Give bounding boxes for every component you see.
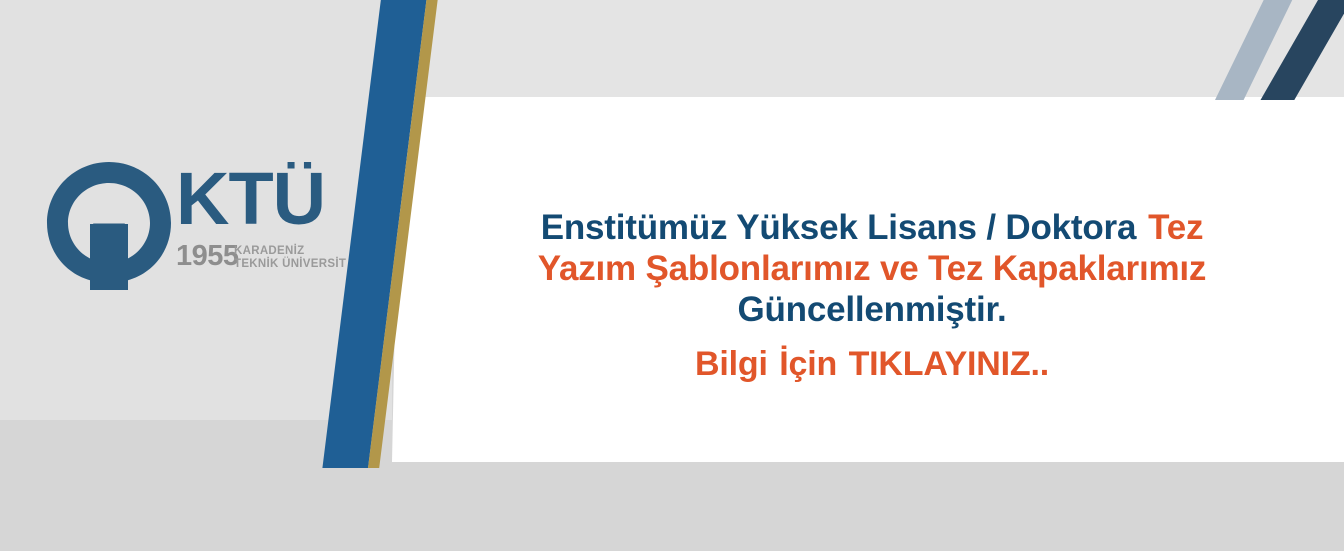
- ktu-logo[interactable]: KTÜ 1955 KARADENİZ TEKNİK ÜNİVERSİTESİ: [45, 160, 345, 295]
- announcement-line-1-orange: Tez: [1148, 208, 1203, 247]
- ktu-logo-subtitle: 1955 KARADENİZ TEKNİK ÜNİVERSİTESİ: [176, 238, 346, 280]
- announcement-line-1-navy: Enstitümüz Yüksek Lisans / Doktora: [541, 208, 1137, 247]
- announcement-text[interactable]: Enstitümüz Yüksek Lisans / DoktoraTez Ya…: [452, 208, 1292, 385]
- ktu-emblem-icon: [45, 160, 173, 292]
- svg-text:KTÜ: KTÜ: [176, 162, 325, 240]
- ktu-acronym: KTÜ: [176, 162, 346, 240]
- announcement-line-2: Yazım Şablonlarımız ve Tez Kapaklarımız: [452, 249, 1292, 290]
- svg-text:KARADENİZ: KARADENİZ: [234, 244, 304, 257]
- svg-text:1955: 1955: [176, 240, 239, 272]
- cta-word-3: TIKLAYINIZ..: [849, 345, 1049, 383]
- announcement-line-3: Güncellenmiştir.: [452, 290, 1292, 331]
- announcement-line-1: Enstitümüz Yüksek Lisans / DoktoraTez: [452, 208, 1292, 249]
- cta-word-1: Bilgi: [695, 345, 768, 383]
- svg-text:TEKNİK ÜNİVERSİTESİ: TEKNİK ÜNİVERSİTESİ: [234, 257, 346, 270]
- cta-word-2: İçin: [779, 345, 837, 383]
- announcement-banner: KTÜ 1955 KARADENİZ TEKNİK ÜNİVERSİTESİ E…: [0, 0, 1344, 551]
- announcement-cta[interactable]: BilgiİçinTIKLAYINIZ..: [452, 345, 1292, 385]
